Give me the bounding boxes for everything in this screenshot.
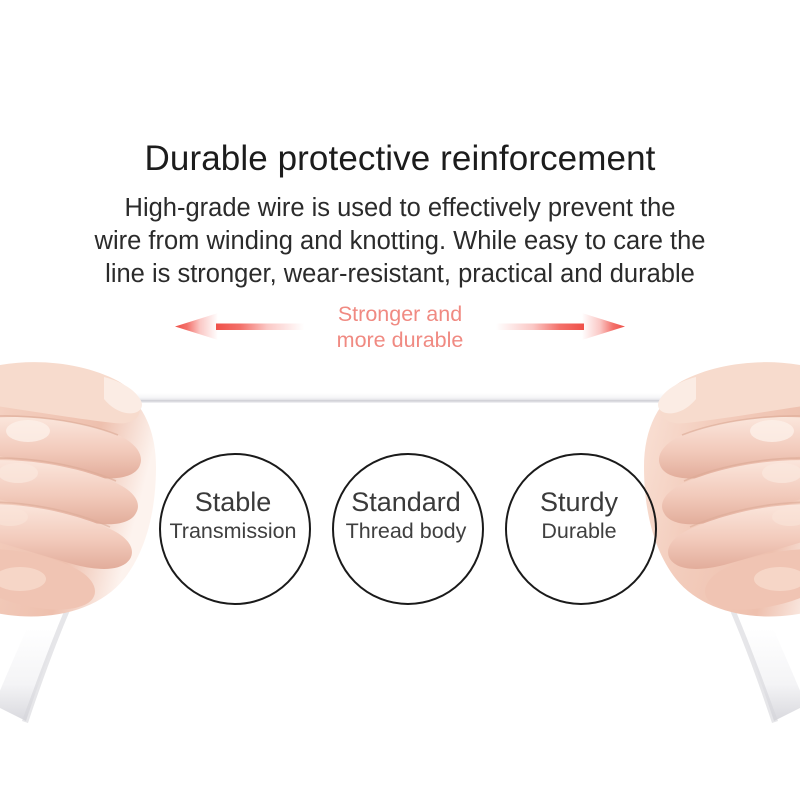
feature-circle-stable <box>159 453 311 605</box>
arrow-caption-line-1: Stronger and <box>0 301 800 327</box>
tension-arrows-band: Stronger and more durable <box>0 296 800 364</box>
description-line-3: line is stronger, wear-resistant, practi… <box>0 258 800 291</box>
arrow-caption: Stronger and more durable <box>0 301 800 353</box>
description-paragraph: High-grade wire is used to effectively p… <box>0 192 800 291</box>
description-line-2: wire from winding and knotting. While ea… <box>0 225 800 258</box>
feature-circle-standard <box>332 453 484 605</box>
feature-circles: Stable Transmission Standard Thread body… <box>0 453 800 603</box>
arrow-caption-line-2: more durable <box>0 327 800 353</box>
feature-circle-sturdy <box>505 453 657 605</box>
page-title: Durable protective reinforcement <box>0 139 800 179</box>
description-line-1: High-grade wire is used to effectively p… <box>0 192 800 225</box>
product-feature-graphic: Durable protective reinforcement High-gr… <box>0 0 800 800</box>
